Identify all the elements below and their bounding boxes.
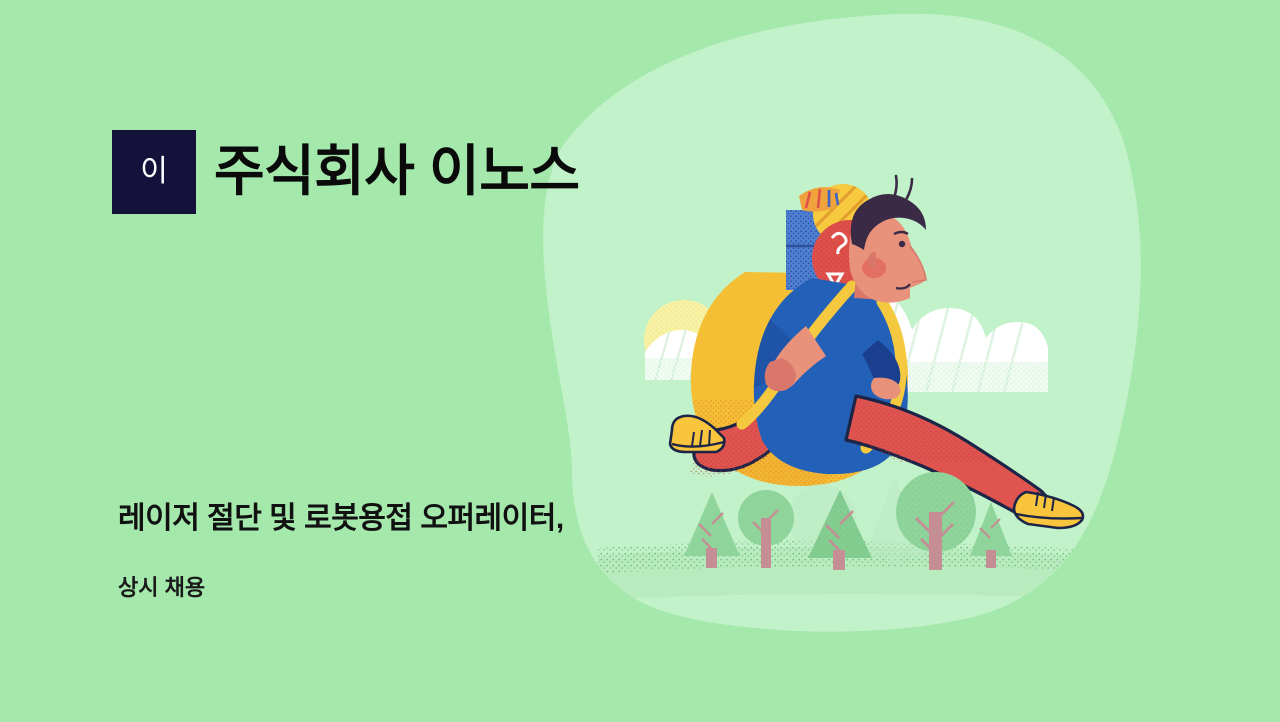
- illustration: [0, 0, 1280, 722]
- job-posting-banner: 이 주식회사 이노스 레이저 절단 및 로봇용접 오퍼레이터, 상시 채용: [0, 0, 1280, 722]
- company-title-row: 이 주식회사 이노스: [112, 130, 579, 214]
- recruit-type-label: 상시 채용: [118, 575, 205, 601]
- job-title: 레이저 절단 및 로봇용접 오퍼레이터,: [118, 501, 564, 537]
- company-badge: 이: [112, 130, 196, 214]
- company-name: 주식회사 이노스: [214, 143, 579, 201]
